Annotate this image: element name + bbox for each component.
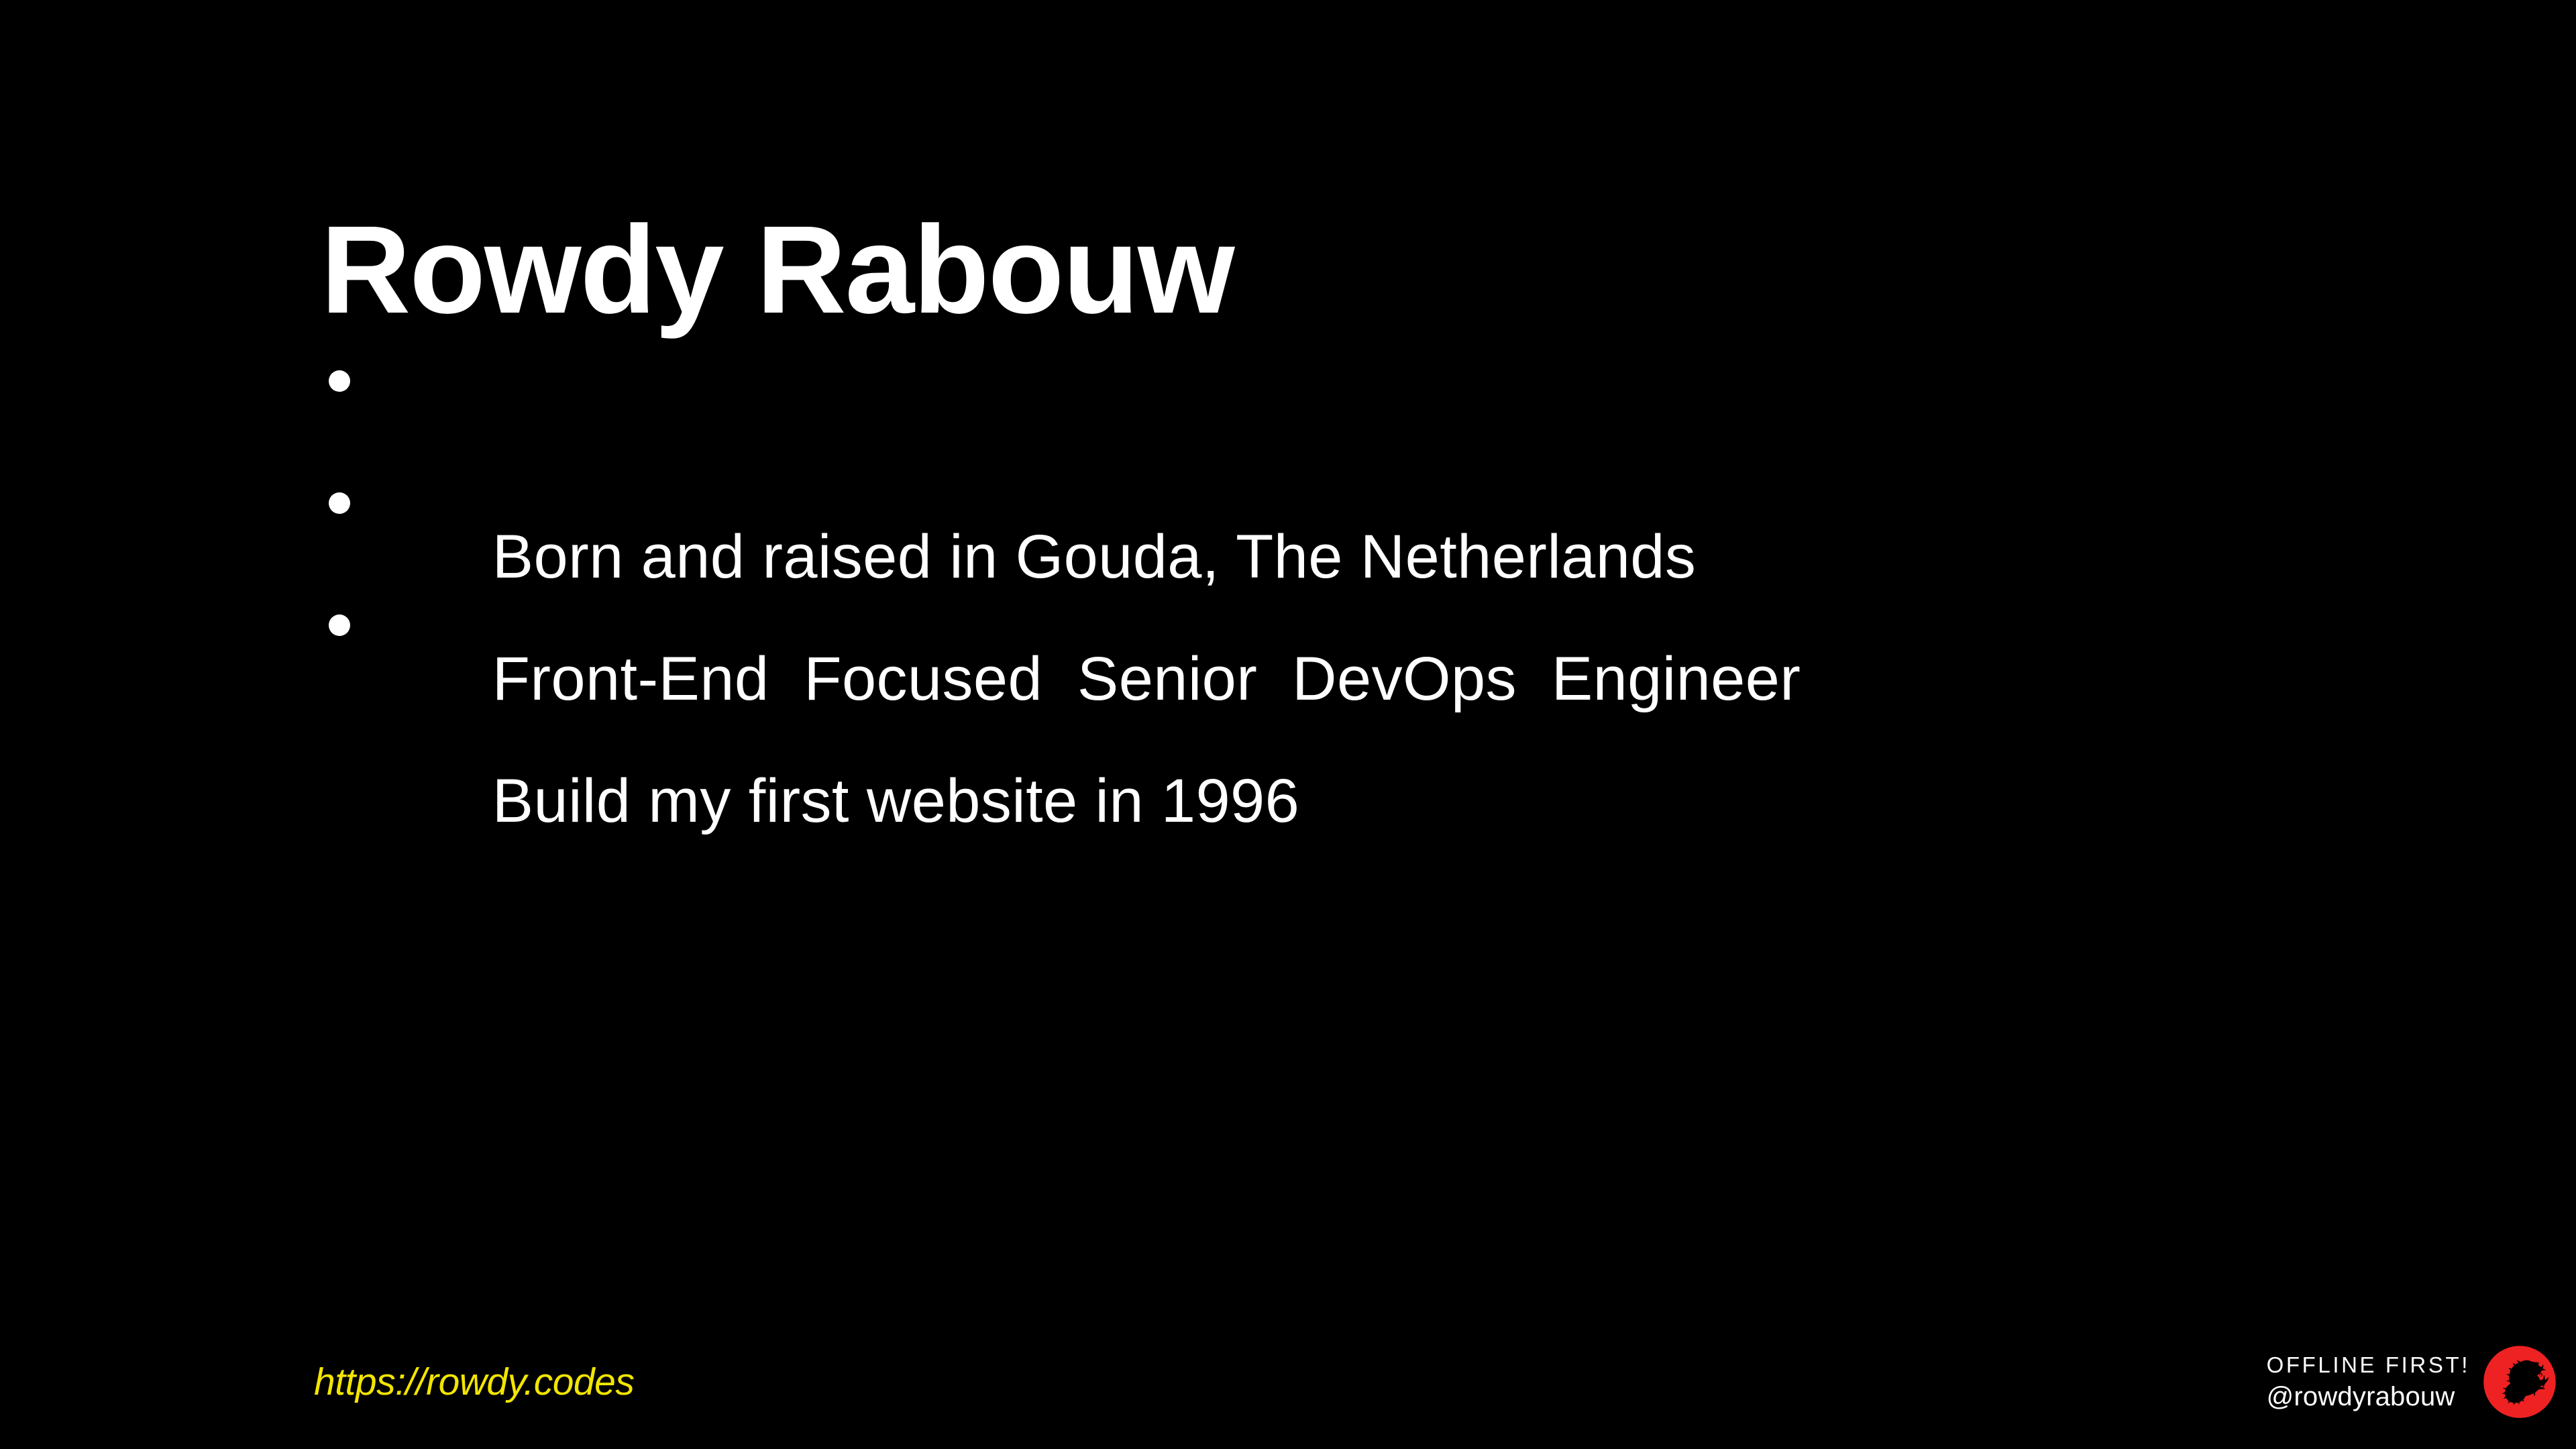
trex-dinosaur-icon xyxy=(2482,1344,2557,1419)
list-item: Build my first website in 1996 xyxy=(321,580,2333,702)
bullet-list: Born and raised in Gouda, The Netherland… xyxy=(321,335,2333,702)
branding-text: OFFLINE FIRST! @rowdyrabouw xyxy=(2267,1350,2470,1413)
list-item: Front-End Focused Senior DevOps Engineer xyxy=(321,458,2333,580)
branding-tagline: OFFLINE FIRST! xyxy=(2267,1350,2470,1380)
branding-block: OFFLINE FIRST! @rowdyrabouw xyxy=(2267,1344,2557,1419)
branding-handle: @rowdyrabouw xyxy=(2267,1380,2455,1413)
bullet-dot-icon xyxy=(329,492,350,514)
footer-url-link[interactable]: https://rowdy.codes xyxy=(314,1363,634,1401)
presentation-slide: Rowdy Rabouw Born and raised in Gouda, T… xyxy=(0,0,2576,1449)
bullet-dot-icon xyxy=(329,370,350,392)
page-title: Rowdy Rabouw xyxy=(321,203,1234,338)
list-item-label: Build my first website in 1996 xyxy=(492,757,1299,845)
list-item: Born and raised in Gouda, The Netherland… xyxy=(321,335,2333,458)
bullet-dot-icon xyxy=(329,614,350,636)
